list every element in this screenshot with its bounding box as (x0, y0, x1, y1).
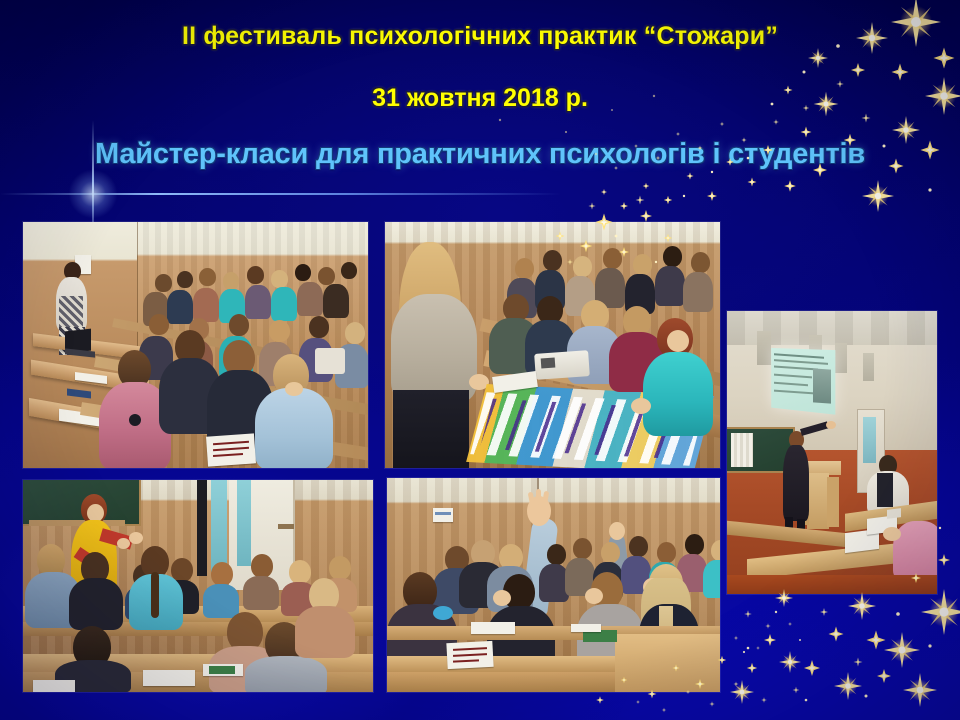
slide-title-line-2: 31 жовтня 2018 р. (0, 84, 960, 113)
slide-title-line-1: II фестиваль психологічних практик “Стож… (0, 22, 960, 51)
slide-header: II фестиваль психологічних практик “Стож… (0, 0, 960, 196)
photo-workshop-board-game (385, 222, 720, 468)
presentation-slide: II фестиваль психологічних практик “Стож… (0, 0, 960, 720)
slide-subtitle: Майстер-класи для практичних психологів … (0, 138, 960, 171)
cross-sparkle-icon (69, 170, 117, 218)
photo-raised-hands-audience (387, 478, 720, 692)
photo-projector-presentation (727, 311, 937, 594)
photo-lecture-hall-presenter (23, 222, 368, 468)
photo-speaker-yellow-dress (23, 480, 373, 692)
